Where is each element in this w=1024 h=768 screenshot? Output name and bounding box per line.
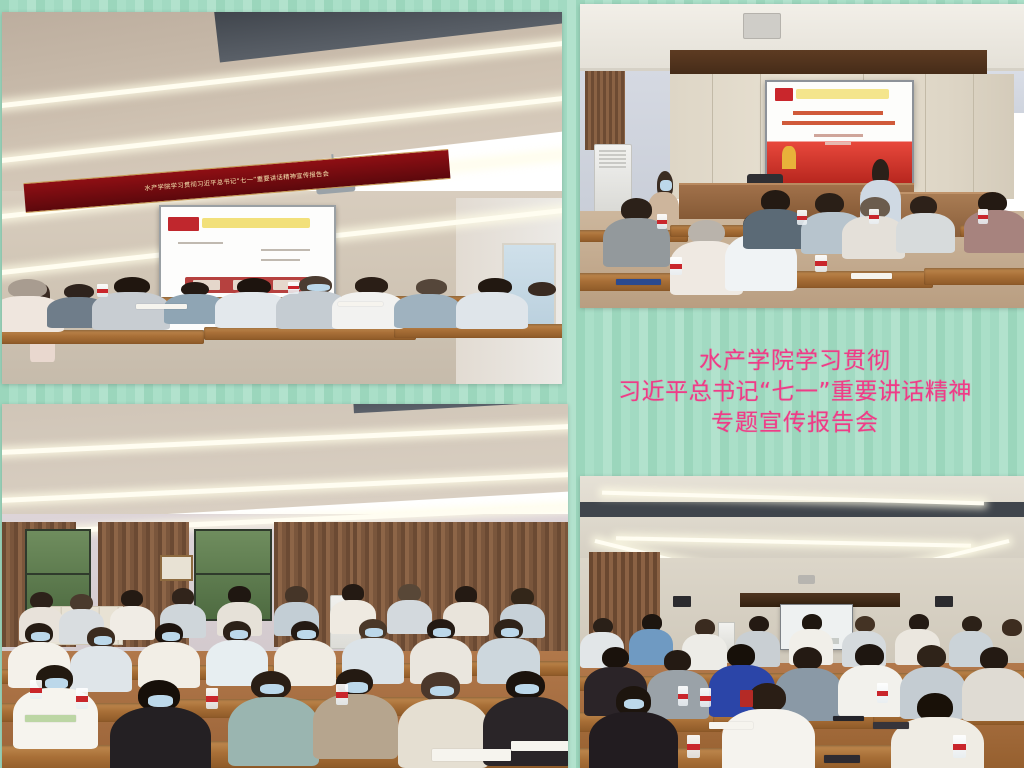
ceiling	[2, 404, 568, 525]
title-line-3: 专题宣传报告会	[711, 408, 879, 439]
wood-valance	[670, 50, 986, 77]
photo-bottom-left-image	[2, 404, 568, 768]
wall-frame	[160, 555, 192, 581]
audience-crowd	[2, 581, 568, 768]
poster-title: 水产学院学习贯彻 习近平总书记“七一”重要讲话精神 专题宣传报告会	[566, 312, 1024, 472]
projection-screen	[765, 80, 914, 187]
photo-collage-poster: 水产学院学习贯彻习近平总书记“七一”重要讲话精神宣传报告会	[0, 0, 1024, 768]
photo-top-right	[580, 4, 1024, 308]
title-line-1: 水产学院学习贯彻	[699, 346, 891, 377]
photo-bottom-left	[2, 404, 568, 768]
audience-crowd	[580, 174, 1024, 308]
photo-top-left-image: 水产学院学习贯彻习近平总书记“七一”重要讲话精神宣传报告会	[2, 12, 562, 384]
photo-top-right-image	[580, 4, 1024, 308]
projector	[743, 13, 781, 39]
photo-top-left: 水产学院学习贯彻习近平总书记“七一”重要讲话精神宣传报告会	[2, 12, 562, 384]
curtain	[585, 71, 626, 150]
audience-crowd	[580, 604, 1024, 768]
title-line-2: 习近平总书记“七一”重要讲话精神	[618, 377, 972, 408]
projector	[798, 575, 816, 584]
audience-crowd	[2, 265, 562, 384]
photo-bottom-right	[580, 476, 1024, 768]
photo-bottom-right-image	[580, 476, 1024, 768]
ceiling	[580, 476, 1024, 564]
red-banner-text: 水产学院学习贯彻习近平总书记“七一”重要讲话精神宣传报告会	[144, 169, 329, 193]
